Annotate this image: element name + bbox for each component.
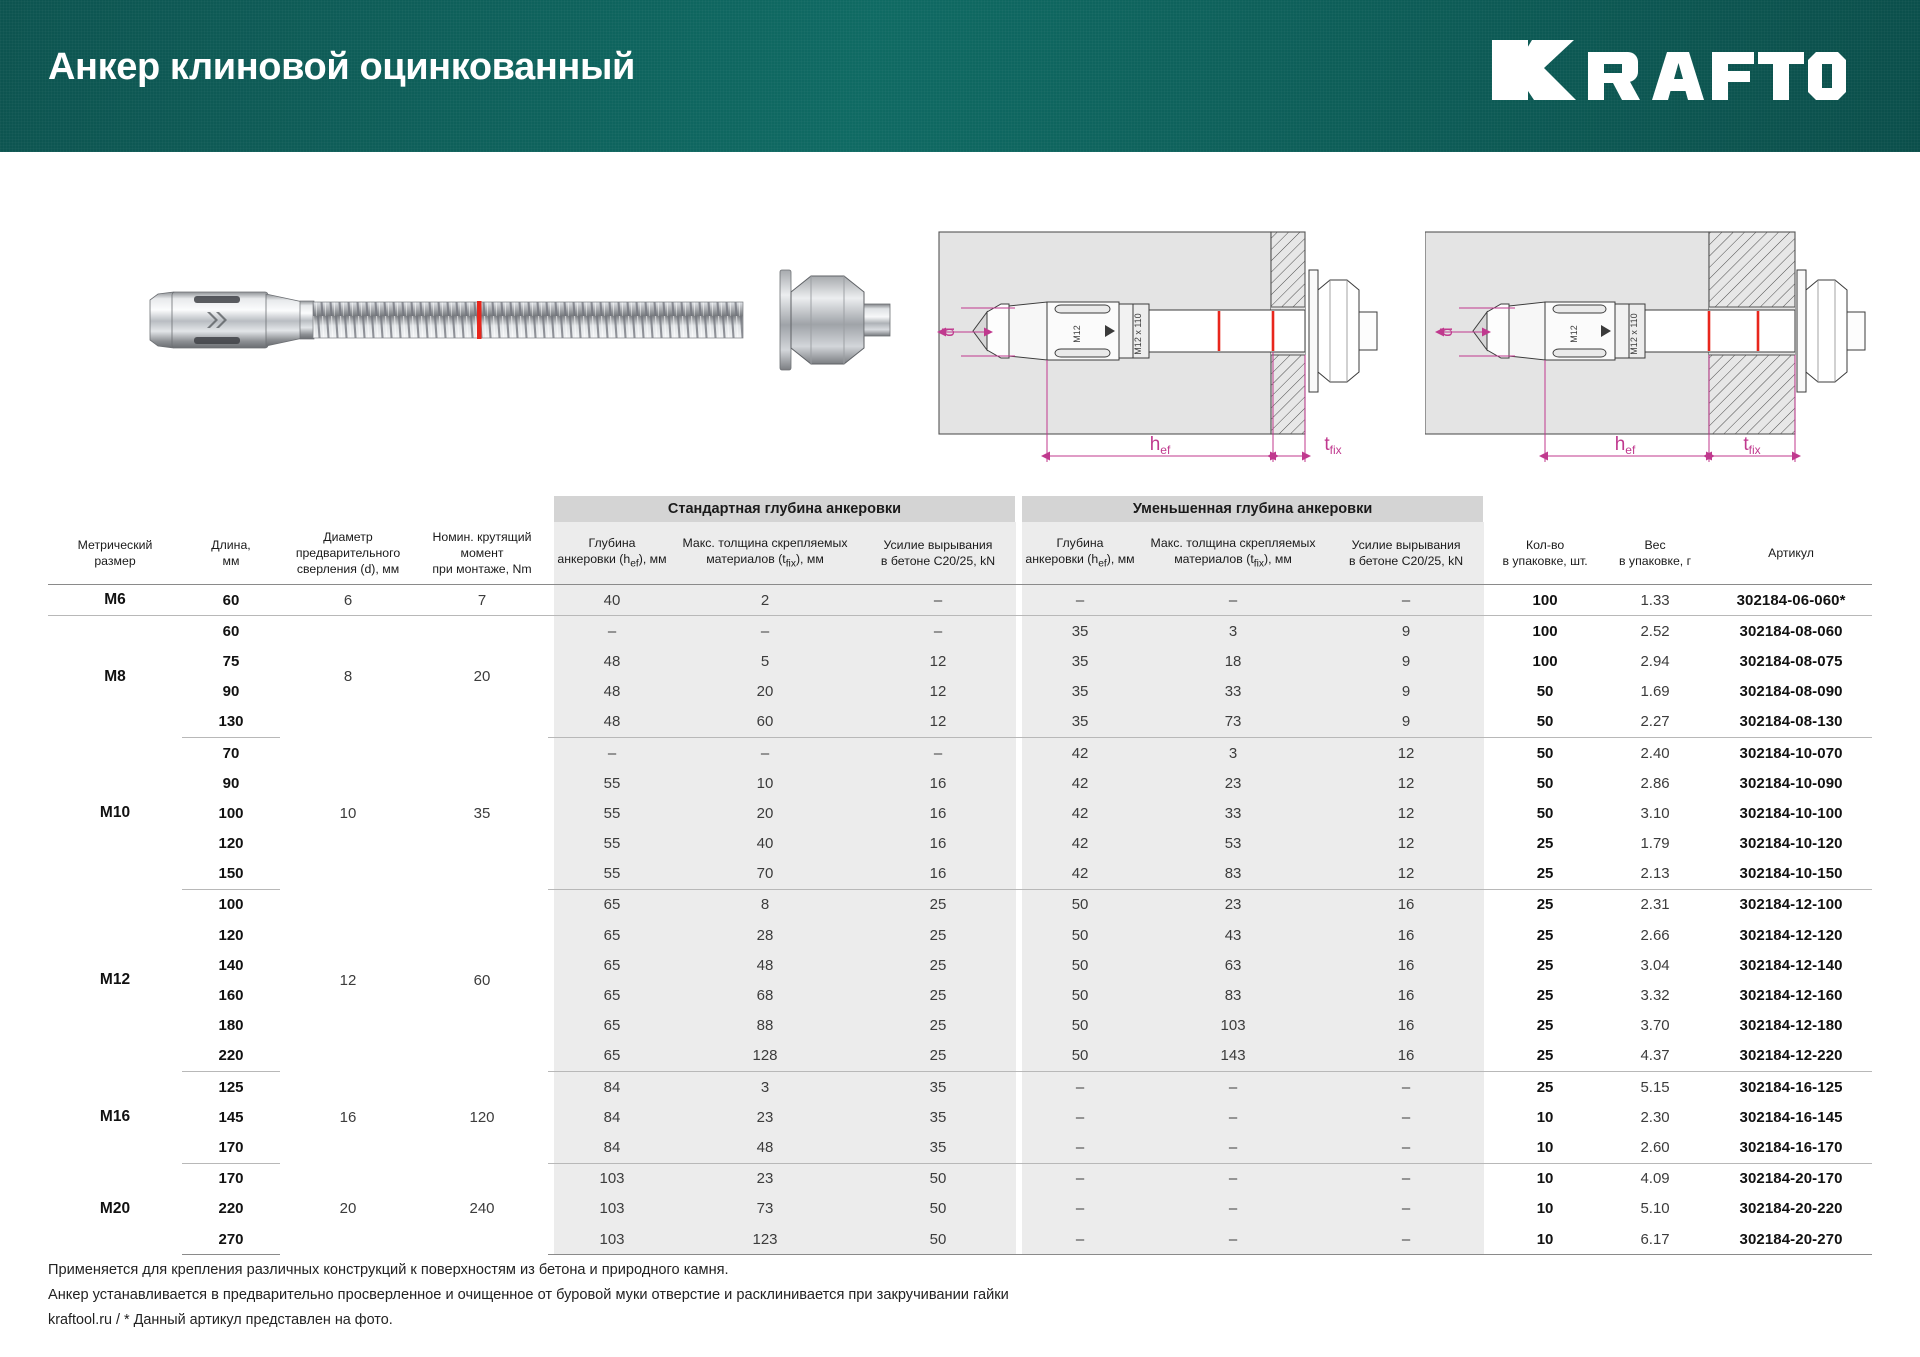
- col-header-line: момент: [416, 545, 548, 561]
- cell-quantity: 100: [1490, 585, 1600, 616]
- group-header-reduced-depth: Уменьшенная глубина анкеровки: [1022, 496, 1484, 522]
- cell-length: 70: [182, 737, 280, 768]
- cell-std-pullout: 25: [860, 920, 1016, 950]
- cell-quantity: 25: [1490, 950, 1600, 980]
- col-header-line: материалов (tfix), мм: [1138, 551, 1328, 571]
- cell-std-thickness: 128: [670, 1041, 860, 1072]
- cell-std-pullout: 12: [860, 646, 1016, 676]
- col-header-line: Длина,: [182, 537, 280, 553]
- cell-torque: 35: [416, 737, 548, 889]
- table-row: M20170202401032350–––104.09302184-20-170: [48, 1163, 1872, 1194]
- cell-article: 302184-16-170: [1710, 1132, 1872, 1163]
- cell-std-thickness: 123: [670, 1224, 860, 1255]
- cell-std-thickness: 40: [670, 829, 860, 859]
- cell-red-depth: –: [1022, 1102, 1138, 1132]
- stamp-thread-label: M12: [1569, 325, 1579, 343]
- cell-article: 302184-10-150: [1710, 859, 1872, 890]
- cell-std-depth: 103: [554, 1163, 670, 1194]
- cell-std-pullout: –: [860, 616, 1016, 647]
- cell-article: 302184-12-140: [1710, 950, 1872, 980]
- cell-red-thickness: 63: [1138, 950, 1328, 980]
- cell-quantity: 25: [1490, 1011, 1600, 1041]
- cell-std-thickness: 68: [670, 980, 860, 1010]
- cell-red-pullout: –: [1328, 1224, 1484, 1255]
- dimension-d-label: d: [939, 327, 958, 336]
- stamp-size-label: M12 x 110: [1133, 313, 1143, 354]
- cell-article: 302184-10-100: [1710, 798, 1872, 828]
- cell-red-thickness: 143: [1138, 1041, 1328, 1072]
- cell-red-thickness: –: [1138, 1072, 1328, 1103]
- col-header-red-pullout: Усилие вырывания в бетоне C20/25, kN: [1328, 522, 1484, 585]
- col-header-drill-diameter: Диаметр предварительного сверления (d), …: [280, 522, 416, 585]
- cell-article: 302184-20-170: [1710, 1163, 1872, 1194]
- page-header: Анкер клиновой оцинкованный: [0, 0, 1920, 152]
- cell-red-pullout: 16: [1328, 1041, 1484, 1072]
- col-header-length: Длина, мм: [182, 522, 280, 585]
- col-header-red-depth: Глубина анкеровки (hef), мм: [1022, 522, 1138, 585]
- footer-line-installation: Анкер устанавливается в предварительно п…: [48, 1283, 1009, 1308]
- cell-std-pullout: –: [860, 585, 1016, 616]
- cell-weight: 3.04: [1600, 950, 1710, 980]
- cell-red-depth: 42: [1022, 768, 1138, 798]
- cell-length: 75: [182, 646, 280, 676]
- cell-quantity: 10: [1490, 1132, 1600, 1163]
- cell-std-thickness: –: [670, 616, 860, 647]
- col-header-line: Диаметр: [280, 529, 416, 545]
- table-body: M66067402––––1001.33302184-06-060*M86082…: [48, 585, 1872, 1255]
- cell-std-thickness: 28: [670, 920, 860, 950]
- cell-length: 120: [182, 920, 280, 950]
- cell-length: 90: [182, 677, 280, 707]
- cell-red-thickness: 18: [1138, 646, 1328, 676]
- dimension-tfix-label: tfix: [1743, 434, 1760, 457]
- cell-weight: 2.60: [1600, 1132, 1710, 1163]
- dimension-hef-label: hef: [1150, 434, 1171, 457]
- group-header-standard-depth: Стандартная глубина анкеровки: [554, 496, 1016, 522]
- cell-std-thickness: 23: [670, 1102, 860, 1132]
- cell-red-depth: 42: [1022, 829, 1138, 859]
- col-header-line: Усилие вырывания: [1328, 537, 1484, 553]
- cell-weight: 2.31: [1600, 889, 1710, 920]
- cell-article: 302184-08-130: [1710, 707, 1872, 738]
- cell-red-depth: 50: [1022, 950, 1138, 980]
- cell-std-thickness: 48: [670, 1132, 860, 1163]
- cell-length: 220: [182, 1194, 280, 1224]
- cell-red-thickness: –: [1138, 1194, 1328, 1224]
- cell-torque: 240: [416, 1163, 548, 1255]
- cell-quantity: 10: [1490, 1102, 1600, 1132]
- col-header-line: в упаковке, г: [1600, 553, 1710, 569]
- cell-article: 302184-08-075: [1710, 646, 1872, 676]
- cell-std-depth: 84: [554, 1102, 670, 1132]
- cell-article: 302184-16-125: [1710, 1072, 1872, 1103]
- cell-quantity: 25: [1490, 829, 1600, 859]
- cell-red-pullout: 9: [1328, 707, 1484, 738]
- cell-red-thickness: 3: [1138, 737, 1328, 768]
- cell-quantity: 25: [1490, 920, 1600, 950]
- table-row: M12100126065825502316252.31302184-12-100: [48, 889, 1872, 920]
- cell-weight: 5.15: [1600, 1072, 1710, 1103]
- cell-quantity: 25: [1490, 1041, 1600, 1072]
- cell-red-pullout: 16: [1328, 950, 1484, 980]
- cell-std-pullout: 35: [860, 1072, 1016, 1103]
- cell-length: 170: [182, 1163, 280, 1194]
- col-header-line: Артикул: [1710, 545, 1872, 561]
- col-header-sub: ef: [630, 559, 639, 570]
- col-header-frag: анкеровки (h: [1025, 552, 1098, 566]
- kraftool-logo: [1488, 38, 1868, 102]
- cell-red-thickness: 103: [1138, 1011, 1328, 1041]
- cell-red-depth: 50: [1022, 889, 1138, 920]
- cell-torque: 20: [416, 616, 548, 738]
- cell-red-pullout: 9: [1328, 677, 1484, 707]
- cell-article: 302184-16-145: [1710, 1102, 1872, 1132]
- cell-article: 302184-20-220: [1710, 1194, 1872, 1224]
- cell-std-pullout: 50: [860, 1224, 1016, 1255]
- cell-quantity: 25: [1490, 1072, 1600, 1103]
- cell-std-pullout: 25: [860, 950, 1016, 980]
- cell-quantity: 10: [1490, 1163, 1600, 1194]
- col-header-line: материалов (tfix), мм: [670, 551, 860, 571]
- col-header-quantity: Кол-во в упаковке, шт.: [1490, 522, 1600, 585]
- dimension-tfix-label: tfix: [1324, 434, 1341, 457]
- cell-weight: 1.79: [1600, 829, 1710, 859]
- cell-red-pullout: –: [1328, 1194, 1484, 1224]
- col-header-line: сверления (d), мм: [280, 561, 416, 577]
- cell-red-pullout: –: [1328, 1072, 1484, 1103]
- cell-article: 302184-20-270: [1710, 1224, 1872, 1255]
- cell-quantity: 50: [1490, 707, 1600, 738]
- cell-red-depth: –: [1022, 585, 1138, 616]
- cell-weight: 3.10: [1600, 798, 1710, 828]
- cell-red-pullout: 12: [1328, 737, 1484, 768]
- col-header-line: в бетоне C20/25, kN: [860, 553, 1016, 569]
- cell-red-pullout: 16: [1328, 980, 1484, 1010]
- col-header-red-thickness: Макс. толщина скрепляемых материалов (tf…: [1138, 522, 1328, 585]
- cell-length: 60: [182, 616, 280, 647]
- cell-std-thickness: 5: [670, 646, 860, 676]
- cell-std-pullout: 25: [860, 980, 1016, 1010]
- cell-weight: 6.17: [1600, 1224, 1710, 1255]
- cell-quantity: 25: [1490, 980, 1600, 1010]
- cell-red-pullout: –: [1328, 1102, 1484, 1132]
- cell-length: 120: [182, 829, 280, 859]
- cell-std-depth: 65: [554, 1041, 670, 1072]
- cell-red-pullout: 9: [1328, 646, 1484, 676]
- cell-std-pullout: 16: [860, 829, 1016, 859]
- cell-article: 302184-12-220: [1710, 1041, 1872, 1072]
- col-header-line: Глубина: [1022, 535, 1138, 551]
- cell-length: 270: [182, 1224, 280, 1255]
- cell-article: 302184-06-060*: [1710, 585, 1872, 616]
- cell-red-pullout: 12: [1328, 829, 1484, 859]
- cell-metric-size: M8: [48, 616, 182, 738]
- col-header-line: размер: [48, 553, 182, 569]
- cell-drill-diameter: 12: [280, 889, 416, 1071]
- col-header-line: в упаковке, шт.: [1490, 553, 1600, 569]
- cell-std-pullout: 50: [860, 1194, 1016, 1224]
- cell-weight: 1.69: [1600, 677, 1710, 707]
- cell-std-pullout: 25: [860, 1011, 1016, 1041]
- cell-article: 302184-10-120: [1710, 829, 1872, 859]
- table-column-header-row: Метрический размер Длина, мм Диаметр пре…: [48, 522, 1872, 585]
- cell-metric-size: M6: [48, 585, 182, 616]
- cell-torque: 60: [416, 889, 548, 1071]
- cell-article: 302184-12-180: [1710, 1011, 1872, 1041]
- col-header-std-depth: Глубина анкеровки (hef), мм: [554, 522, 670, 585]
- cell-std-thickness: 48: [670, 950, 860, 980]
- cell-red-pullout: 16: [1328, 889, 1484, 920]
- cell-std-thickness: 3: [670, 1072, 860, 1103]
- cell-std-thickness: 88: [670, 1011, 860, 1041]
- cell-red-depth: –: [1022, 1194, 1138, 1224]
- cell-red-thickness: 23: [1138, 768, 1328, 798]
- cell-red-thickness: 33: [1138, 677, 1328, 707]
- cell-metric-size: M16: [48, 1072, 182, 1164]
- cell-red-thickness: 53: [1138, 829, 1328, 859]
- cell-quantity: 25: [1490, 889, 1600, 920]
- dimension-hef-label: hef: [1615, 434, 1636, 457]
- cell-std-thickness: 2: [670, 585, 860, 616]
- cell-quantity: 100: [1490, 616, 1600, 647]
- cell-red-thickness: 23: [1138, 889, 1328, 920]
- wedge-anchor-photo: [128, 252, 896, 388]
- col-header-sub: fix: [1254, 559, 1264, 570]
- cell-length: 60: [182, 585, 280, 616]
- col-header-frag: ), мм: [1107, 552, 1135, 566]
- cell-red-pullout: 9: [1328, 616, 1484, 647]
- cell-std-depth: 65: [554, 980, 670, 1010]
- col-header-line: Макс. толщина скрепляемых: [670, 535, 860, 551]
- cell-weight: 4.09: [1600, 1163, 1710, 1194]
- cell-std-pullout: 12: [860, 707, 1016, 738]
- cell-red-pullout: –: [1328, 1132, 1484, 1163]
- col-header-torque: Номин. крутящий момент при монтаже, Nm: [416, 522, 548, 585]
- cell-quantity: 25: [1490, 859, 1600, 890]
- cell-red-depth: 50: [1022, 920, 1138, 950]
- cell-weight: 1.33: [1600, 585, 1710, 616]
- cell-article: 302184-08-090: [1710, 677, 1872, 707]
- cell-std-thickness: 73: [670, 1194, 860, 1224]
- cell-std-pullout: 35: [860, 1102, 1016, 1132]
- col-header-metric-size: Метрический размер: [48, 522, 182, 585]
- cell-std-thickness: 20: [670, 798, 860, 828]
- cell-length: 150: [182, 859, 280, 890]
- cell-drill-diameter: 16: [280, 1072, 416, 1164]
- cell-quantity: 100: [1490, 646, 1600, 676]
- cell-article: 302184-10-070: [1710, 737, 1872, 768]
- cell-quantity: 50: [1490, 798, 1600, 828]
- cell-std-depth: 65: [554, 1011, 670, 1041]
- cell-red-depth: 42: [1022, 737, 1138, 768]
- col-header-article: Артикул: [1710, 522, 1872, 585]
- col-header-frag: материалов (t: [706, 552, 786, 566]
- cell-std-depth: 48: [554, 677, 670, 707]
- cell-std-thickness: 20: [670, 677, 860, 707]
- cell-red-depth: –: [1022, 1224, 1138, 1255]
- cell-std-pullout: 12: [860, 677, 1016, 707]
- col-header-frag: материалов (t: [1174, 552, 1254, 566]
- cell-std-depth: 65: [554, 920, 670, 950]
- cell-std-depth: 55: [554, 829, 670, 859]
- cell-red-depth: 42: [1022, 859, 1138, 890]
- cell-red-pullout: –: [1328, 1163, 1484, 1194]
- cell-red-thickness: 43: [1138, 920, 1328, 950]
- col-header-line: предварительного: [280, 545, 416, 561]
- cell-length: 220: [182, 1041, 280, 1072]
- cell-red-depth: 35: [1022, 616, 1138, 647]
- cell-quantity: 50: [1490, 677, 1600, 707]
- cell-length: 100: [182, 889, 280, 920]
- cell-weight: 2.52: [1600, 616, 1710, 647]
- cell-std-depth: 65: [554, 950, 670, 980]
- cell-drill-diameter: 20: [280, 1163, 416, 1255]
- cell-std-depth: 40: [554, 585, 670, 616]
- cell-torque: 7: [416, 585, 548, 616]
- stamp-size-label: M12 x 110: [1629, 313, 1639, 354]
- col-header-line: в бетоне C20/25, kN: [1328, 553, 1484, 569]
- table-row: M161251612084335–––255.15302184-16-125: [48, 1072, 1872, 1103]
- cell-weight: 2.13: [1600, 859, 1710, 890]
- cell-red-depth: 50: [1022, 1011, 1138, 1041]
- cell-std-thickness: 70: [670, 859, 860, 890]
- specification-table-wrapper: Стандартная глубина анкеровки Уменьшенна…: [48, 496, 1872, 1255]
- col-header-line: Кол-во: [1490, 537, 1600, 553]
- cell-std-pullout: 35: [860, 1132, 1016, 1163]
- cell-std-pullout: 16: [860, 798, 1016, 828]
- cell-quantity: 50: [1490, 768, 1600, 798]
- cell-red-pullout: 16: [1328, 1011, 1484, 1041]
- col-header-line: Метрический: [48, 537, 182, 553]
- cell-red-depth: 35: [1022, 677, 1138, 707]
- cell-red-pullout: –: [1328, 585, 1484, 616]
- cell-red-thickness: 73: [1138, 707, 1328, 738]
- cell-red-pullout: 12: [1328, 798, 1484, 828]
- cell-red-thickness: 83: [1138, 859, 1328, 890]
- cell-std-depth: 84: [554, 1072, 670, 1103]
- col-header-line: Глубина: [554, 535, 670, 551]
- cell-article: 302184-12-120: [1710, 920, 1872, 950]
- dimension-d-label: d: [1437, 327, 1456, 336]
- cell-std-thickness: –: [670, 737, 860, 768]
- col-header-frag: анкеровки (h: [557, 552, 630, 566]
- table-head: Стандартная глубина анкеровки Уменьшенна…: [48, 496, 1872, 585]
- stamp-thread-label: M12: [1072, 325, 1082, 343]
- cell-quantity: 50: [1490, 737, 1600, 768]
- cell-red-thickness: 83: [1138, 980, 1328, 1010]
- cell-std-thickness: 8: [670, 889, 860, 920]
- cell-length: 160: [182, 980, 280, 1010]
- cell-length: 145: [182, 1102, 280, 1132]
- cell-std-depth: 65: [554, 889, 670, 920]
- cell-red-pullout: 16: [1328, 920, 1484, 950]
- diagram-standard-anchoring-depth: M12 M12 x 110 d hef tfix: [935, 212, 1415, 480]
- cell-std-depth: 55: [554, 859, 670, 890]
- cell-weight: 5.10: [1600, 1194, 1710, 1224]
- cell-length: 100: [182, 798, 280, 828]
- footer-notes: Применяется для крепления различных конс…: [48, 1258, 1009, 1333]
- cell-torque: 120: [416, 1072, 548, 1164]
- cell-weight: 2.27: [1600, 707, 1710, 738]
- specification-table: Стандартная глубина анкеровки Уменьшенна…: [48, 496, 1872, 1255]
- col-header-line: при монтаже, Nm: [416, 561, 548, 577]
- cell-red-thickness: –: [1138, 1163, 1328, 1194]
- cell-red-thickness: 3: [1138, 616, 1328, 647]
- table-group-header-row: Стандартная глубина анкеровки Уменьшенна…: [48, 496, 1872, 522]
- cell-std-depth: 84: [554, 1132, 670, 1163]
- cell-red-thickness: –: [1138, 585, 1328, 616]
- cell-std-depth: 103: [554, 1194, 670, 1224]
- cell-red-depth: 35: [1022, 646, 1138, 676]
- cell-std-depth: –: [554, 737, 670, 768]
- table-row: M66067402––––1001.33302184-06-060*: [48, 585, 1872, 616]
- col-header-sub: fix: [786, 559, 796, 570]
- cell-std-pullout: 25: [860, 1041, 1016, 1072]
- diagram-reduced-anchoring-depth: M12 M12 x 110 d hef tfix: [1425, 212, 1905, 480]
- col-header-weight: Вес в упаковке, г: [1600, 522, 1710, 585]
- cell-article: 302184-12-100: [1710, 889, 1872, 920]
- col-header-line: Усилие вырывания: [860, 537, 1016, 553]
- col-header-std-pullout: Усилие вырывания в бетоне C20/25, kN: [860, 522, 1016, 585]
- cell-red-pullout: 12: [1328, 859, 1484, 890]
- cell-weight: 2.30: [1600, 1102, 1710, 1132]
- cell-std-pullout: 25: [860, 889, 1016, 920]
- cell-drill-diameter: 10: [280, 737, 416, 889]
- cell-red-depth: 50: [1022, 980, 1138, 1010]
- col-header-std-thickness: Макс. толщина скрепляемых материалов (tf…: [670, 522, 860, 585]
- cell-red-depth: –: [1022, 1132, 1138, 1163]
- page-title: Анкер клиновой оцинкованный: [48, 46, 635, 89]
- cell-quantity: 10: [1490, 1224, 1600, 1255]
- cell-red-thickness: –: [1138, 1102, 1328, 1132]
- cell-drill-diameter: 6: [280, 585, 416, 616]
- cell-red-thickness: 33: [1138, 798, 1328, 828]
- group-header-blank-left: [48, 496, 548, 522]
- cell-metric-size: M10: [48, 737, 182, 889]
- cell-metric-size: M20: [48, 1163, 182, 1255]
- cell-length: 140: [182, 950, 280, 980]
- cell-std-pullout: –: [860, 737, 1016, 768]
- cell-length: 125: [182, 1072, 280, 1103]
- cell-std-depth: 103: [554, 1224, 670, 1255]
- table-row: M860820–––35391002.52302184-08-060: [48, 616, 1872, 647]
- cell-std-thickness: 10: [670, 768, 860, 798]
- cell-red-depth: –: [1022, 1072, 1138, 1103]
- cell-length: 130: [182, 707, 280, 738]
- col-header-line: анкеровки (hef), мм: [554, 551, 670, 571]
- col-header-line: анкеровки (hef), мм: [1022, 551, 1138, 571]
- cell-red-pullout: 12: [1328, 768, 1484, 798]
- cell-std-depth: 48: [554, 646, 670, 676]
- cell-weight: 2.66: [1600, 920, 1710, 950]
- cell-article: 302184-12-160: [1710, 980, 1872, 1010]
- cell-weight: 4.37: [1600, 1041, 1710, 1072]
- cell-weight: 3.32: [1600, 980, 1710, 1010]
- cell-std-thickness: 23: [670, 1163, 860, 1194]
- cell-weight: 2.40: [1600, 737, 1710, 768]
- cell-weight: 2.94: [1600, 646, 1710, 676]
- col-header-frag: ), мм: [639, 552, 667, 566]
- cell-std-depth: 55: [554, 798, 670, 828]
- cell-std-pullout: 16: [860, 768, 1016, 798]
- cell-red-depth: 35: [1022, 707, 1138, 738]
- cell-quantity: 10: [1490, 1194, 1600, 1224]
- footer-line-application: Применяется для крепления различных конс…: [48, 1258, 1009, 1283]
- col-header-frag: ), мм: [1264, 552, 1292, 566]
- cell-red-depth: 42: [1022, 798, 1138, 828]
- cell-red-depth: 50: [1022, 1041, 1138, 1072]
- col-header-line: Макс. толщина скрепляемых: [1138, 535, 1328, 551]
